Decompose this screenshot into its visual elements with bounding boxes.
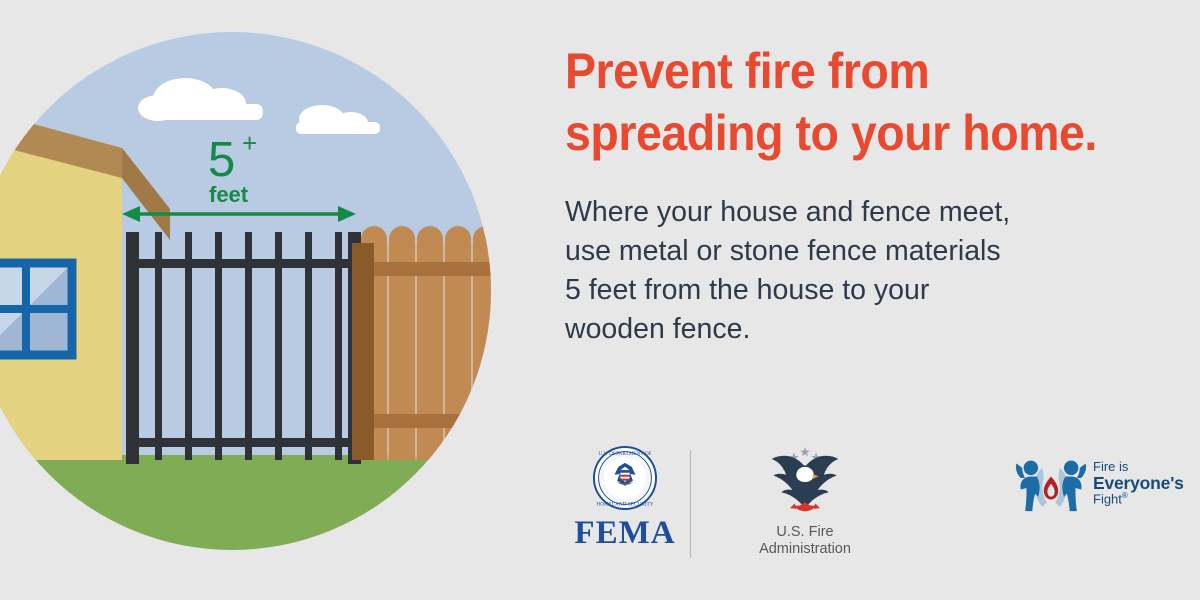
usfa-logo: U.S. Fire Administration bbox=[725, 440, 885, 558]
headline-line-2: spreading to your home. bbox=[565, 102, 1142, 164]
metal-fence-post-left bbox=[126, 232, 139, 464]
dhs-seal-bottom-text: HOMELAND SECURITY bbox=[596, 502, 653, 508]
scene-contents bbox=[0, 0, 520, 600]
feif-line-2: Everyone's bbox=[1093, 474, 1184, 493]
feif-line-3: Fight® bbox=[1093, 492, 1184, 506]
flame-icon bbox=[790, 502, 820, 512]
body-line-1: Where your house and fence meet, bbox=[565, 193, 1165, 232]
wooden-fence bbox=[352, 226, 520, 460]
feif-wordmark: Fire is Everyone's Fight® bbox=[1093, 460, 1184, 506]
body-line-2: use metal or stone fence materials bbox=[565, 232, 1165, 271]
dhs-seal-icon: U.S. DEPARTMENT OF HOMELAND SECURITY bbox=[592, 445, 658, 511]
usfa-line-1: U.S. Fire bbox=[725, 524, 885, 541]
usfa-eagle-icon bbox=[757, 440, 853, 516]
dhs-seal-top-text: U.S. DEPARTMENT OF bbox=[598, 451, 651, 457]
grass bbox=[0, 455, 520, 600]
usfa-wordmark: U.S. Fire Administration bbox=[725, 524, 885, 558]
measure-value: 5 bbox=[208, 133, 235, 187]
usfa-line-2: Administration bbox=[725, 541, 885, 558]
content-panel: Prevent fire from spreading to your home… bbox=[565, 0, 1200, 600]
trademark-symbol: ® bbox=[1122, 491, 1128, 500]
house-window bbox=[0, 263, 72, 355]
body-line-4: wooden fence. bbox=[565, 310, 1165, 349]
two-figures-flame-icon bbox=[1015, 452, 1087, 514]
page-title: Prevent fire from spreading to your home… bbox=[565, 40, 1142, 164]
fema-logo: U.S. DEPARTMENT OF HOMELAND SECURITY FEM… bbox=[565, 440, 685, 550]
measure-superscript: + bbox=[242, 128, 257, 158]
feif-line-1: Fire is bbox=[1093, 460, 1184, 474]
body-line-3: 5 feet from the house to your bbox=[565, 271, 1165, 310]
wooden-fence-post bbox=[352, 243, 374, 460]
fence-scene-illustration: 5 + feet bbox=[0, 0, 520, 600]
logo-divider bbox=[690, 450, 691, 558]
body-copy: Where your house and fence meet, use met… bbox=[565, 193, 1165, 349]
illustration-panel: 5 + feet bbox=[0, 0, 520, 600]
logo-strip: U.S. DEPARTMENT OF HOMELAND SECURITY FEM… bbox=[565, 440, 1200, 570]
headline-line-1: Prevent fire from bbox=[565, 40, 1142, 102]
measure-unit: feet bbox=[209, 182, 249, 207]
fire-is-everyones-fight-logo: Fire is Everyone's Fight® bbox=[1015, 452, 1200, 514]
fema-wordmark: FEMA bbox=[565, 517, 685, 550]
feif-fight-text: Fight bbox=[1093, 491, 1122, 506]
